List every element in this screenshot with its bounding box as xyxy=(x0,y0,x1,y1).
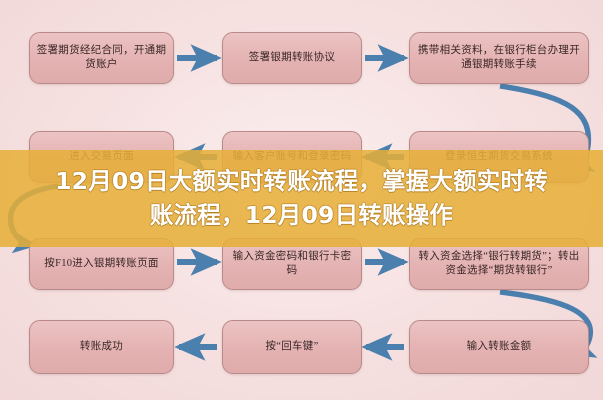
title-banner-overlay: 12月09日大额实时转账流程，掌握大额实时转账流程，12月09日转账操作 xyxy=(0,150,603,247)
flow-step-11-label: 按“回车键” xyxy=(228,340,356,354)
flowchart-image: 签署期货经纪合同，开通期货账户 签署银期转账协议 携带相关资料，在银行柜台办理开… xyxy=(0,0,603,400)
banner-title-text: 12月09日大额实时转账流程，掌握大额实时转账流程，12月09日转账操作 xyxy=(0,165,603,232)
flow-step-7-label: 按F10进入银期转账页面 xyxy=(35,257,168,271)
flow-step-11: 按“回车键” xyxy=(222,320,362,374)
flow-step-2-label: 签署银期转账协议 xyxy=(228,51,356,65)
flow-step-2: 签署银期转账协议 xyxy=(222,32,362,84)
flow-step-1-label: 签署期货经纪合同，开通期货账户 xyxy=(35,44,168,72)
flow-step-9-label: 转入资金选择“银行转期货”；转出资金选择“期货转银行” xyxy=(415,250,583,278)
flow-step-10: 输入转账金额 xyxy=(409,320,589,374)
flow-step-8-label: 输入资金密码和银行卡密码 xyxy=(228,250,356,278)
flow-step-10-label: 输入转账金额 xyxy=(415,340,583,354)
flow-step-3-label: 携带相关资料，在银行柜台办理开通银期转账手续 xyxy=(415,44,583,72)
flow-step-1: 签署期货经纪合同，开通期货账户 xyxy=(29,32,174,84)
flow-step-12: 转账成功 xyxy=(29,320,174,374)
flow-step-12-label: 转账成功 xyxy=(35,340,168,354)
flow-step-3: 携带相关资料，在银行柜台办理开通银期转账手续 xyxy=(409,32,589,84)
